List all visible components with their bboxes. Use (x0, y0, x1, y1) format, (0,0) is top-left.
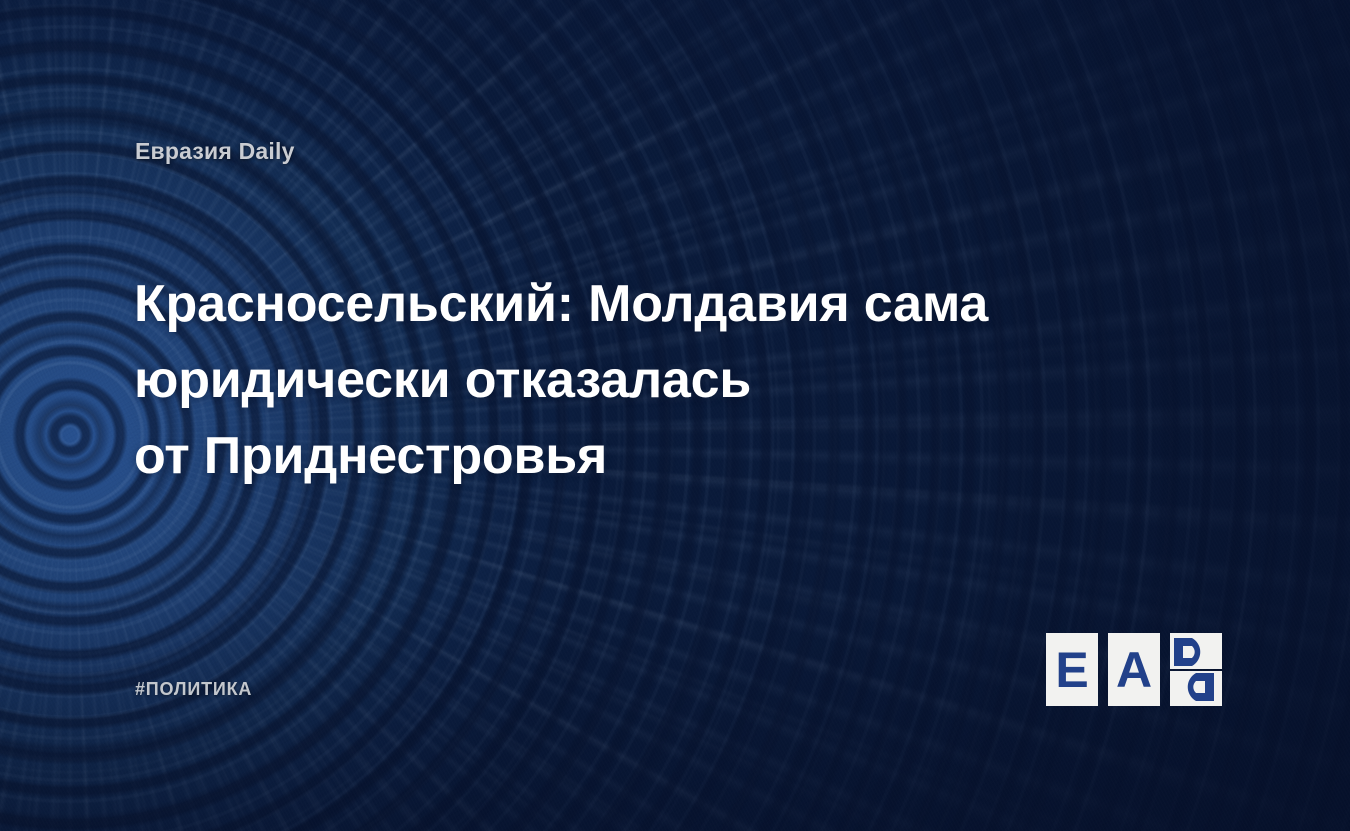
headline-line-3: от Приднестровья (134, 418, 1054, 494)
logo-letter-d-icon (1164, 633, 1224, 706)
headline-line-2: юридически отказалась (134, 342, 1054, 418)
logo-letter-e: E (1046, 633, 1098, 706)
category-hashtag[interactable]: #ПОЛИТИКА (135, 679, 252, 700)
brand-name: Евразия Daily (135, 138, 295, 165)
eadaily-logo[interactable]: E A (1046, 633, 1224, 707)
card-content: Евразия Daily Красносельский: Молдавия с… (0, 0, 1350, 831)
page-title: Красносельский: Молдавия сама юридически… (134, 266, 1054, 494)
headline-line-1: Красносельский: Молдавия сама (134, 266, 1054, 342)
logo-letter-a: A (1108, 633, 1160, 706)
news-card: Евразия Daily Красносельский: Молдавия с… (0, 0, 1350, 831)
